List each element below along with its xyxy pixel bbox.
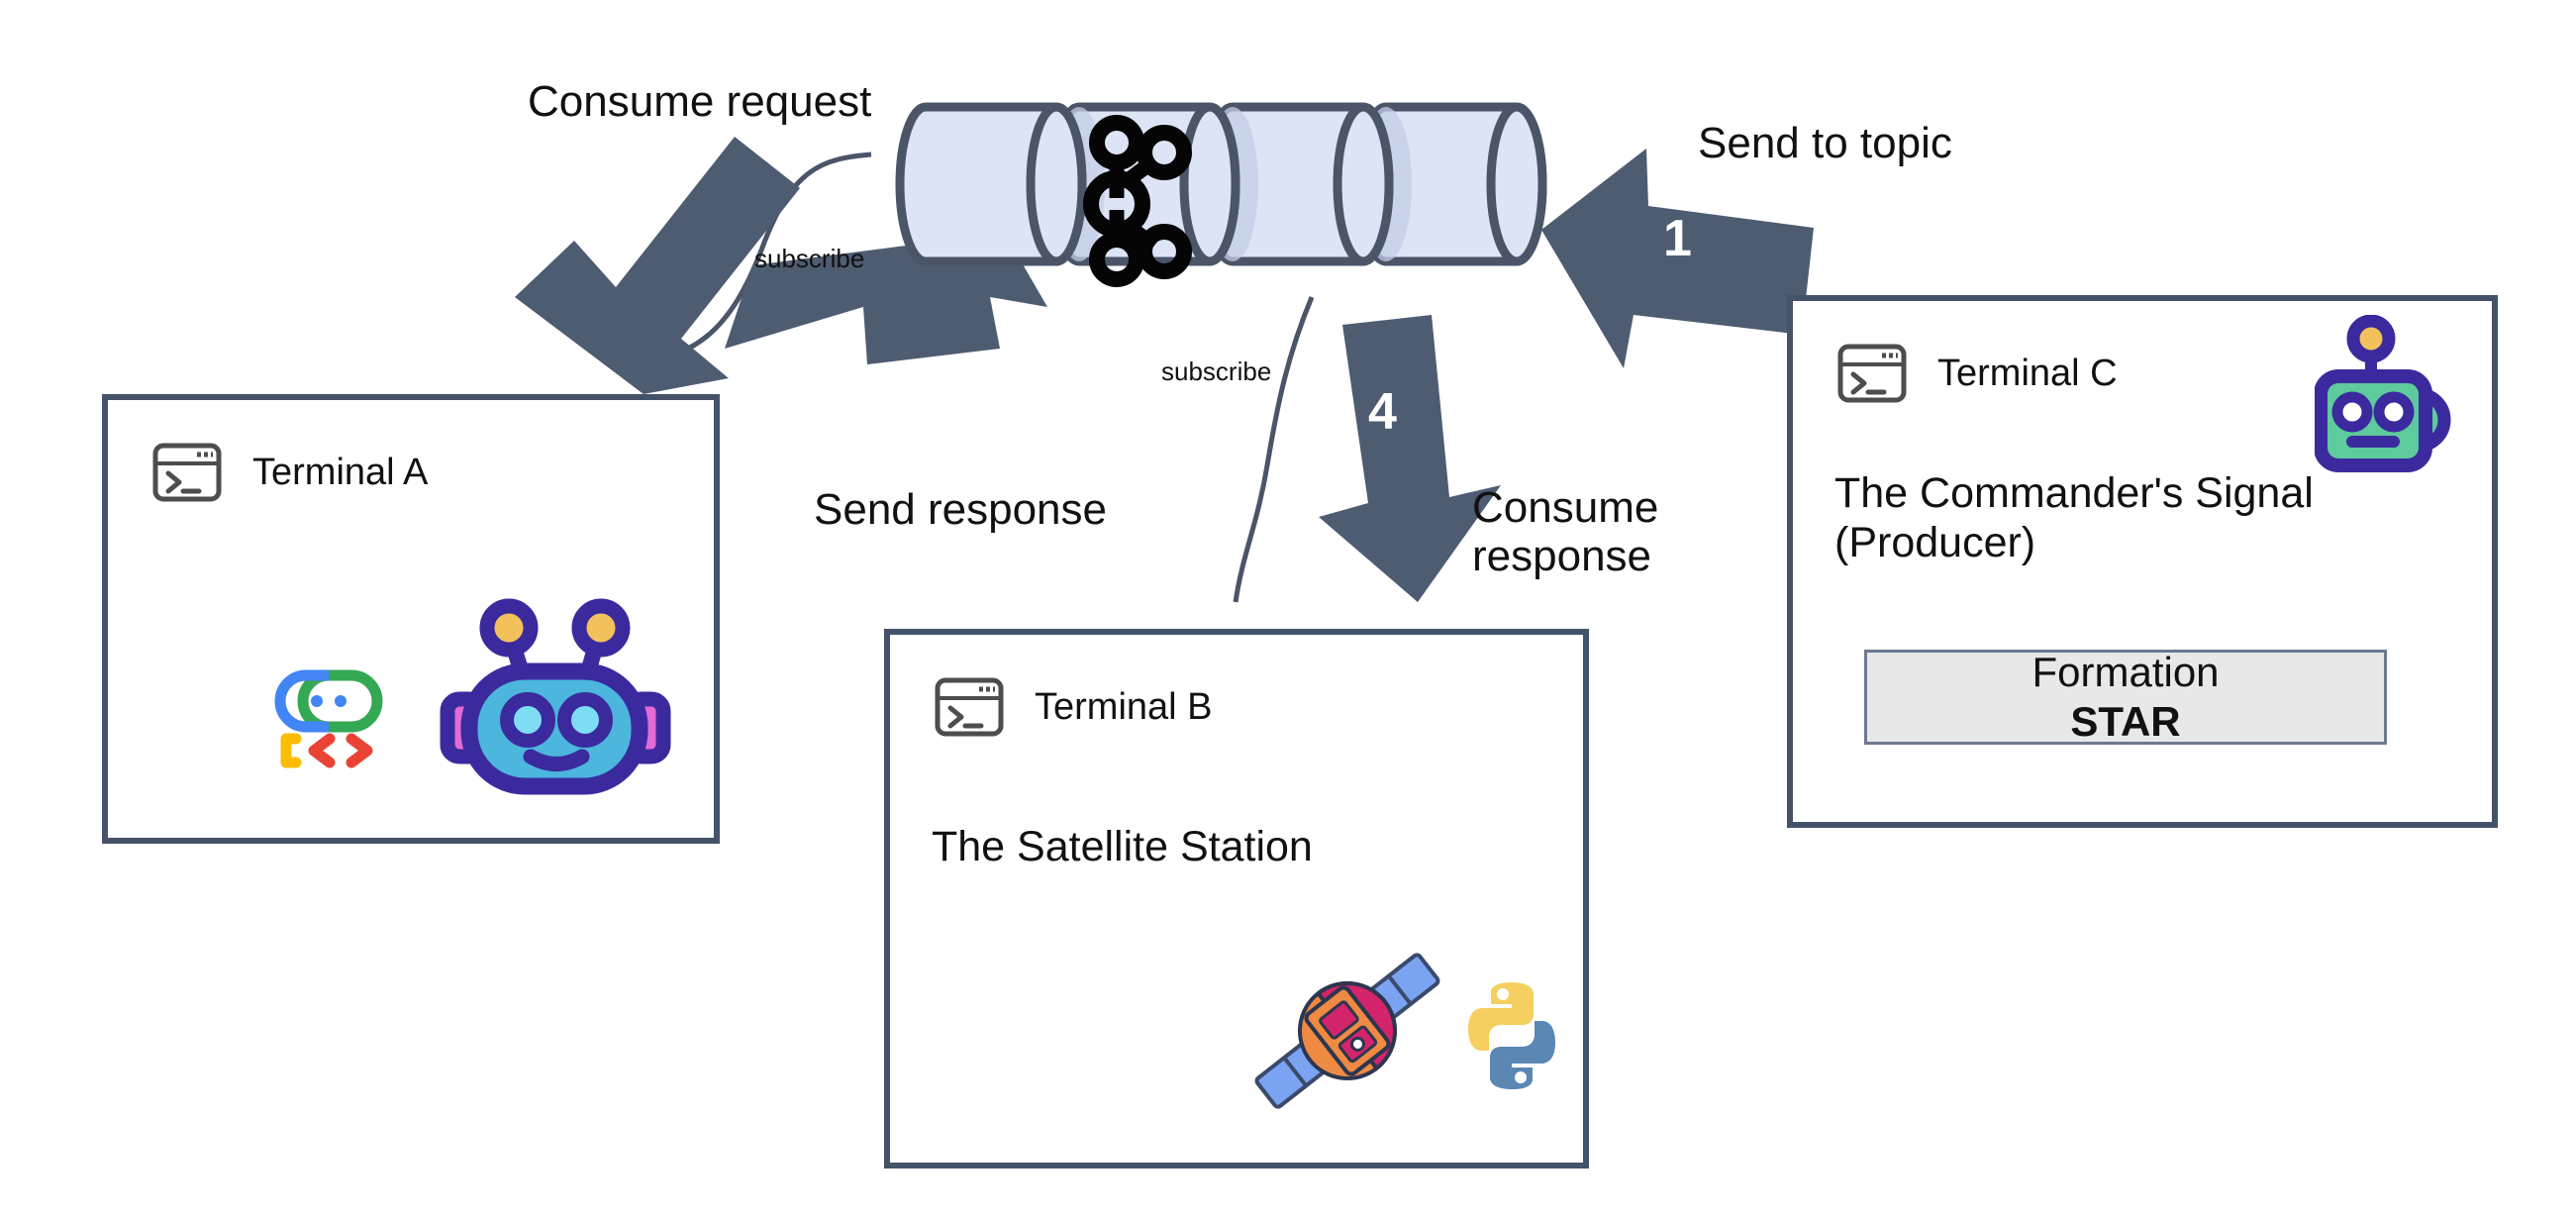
diagram-canvas: 1 2 3 4 Send to topic Consume request Se… [0,0,2576,1220]
topic-segment-3 [1207,107,1389,261]
step-label-send-response: Send response [814,485,1107,534]
step-label-consume-request: Consume request [528,77,871,126]
arrow-1-number: 1 [1663,213,1692,264]
formation-status-chip[interactable]: Formation STAR [1864,650,2387,745]
step-label-consume-response: Consume response [1472,483,1658,581]
gemini-code-assist-icon [274,669,383,773]
step-label-send-to-topic: Send to topic [1698,119,1952,167]
terminal-b-label: Terminal B [1035,688,1213,726]
arrow-3-number: 3 [787,387,827,444]
topic-segment-1 [900,107,1082,261]
terminal-c-label: Terminal C [1937,355,2118,392]
kafka-topic-cylinders [900,107,1542,279]
terminal-a-header: Terminal A [151,442,428,503]
panel-terminal-c[interactable]: Terminal C The Commander's Signal (Produ… [1787,295,2498,828]
terminal-icon [934,676,1005,738]
green-robot-icon [2315,315,2463,478]
terminal-b-header: Terminal B [934,676,1213,738]
topic-segment-4 [1360,107,1542,261]
kafka-logo [1117,160,1154,246]
terminal-icon [151,442,223,503]
subscribe-label-b: subscribe [1161,358,1271,384]
panel-terminal-a[interactable]: Terminal A [102,394,720,844]
topic-segment-2 [1053,107,1236,261]
terminal-b-title: The Satellite Station [932,823,1313,872]
satellite-icon [1238,932,1456,1135]
subscribe-curve-b [1236,297,1312,602]
terminal-a-label: Terminal A [252,454,428,491]
arrow-4-number: 4 [1368,386,1397,438]
terminal-c-header: Terminal C [1836,343,2118,404]
arrow-2-number: 2 [599,207,653,265]
subscribe-label-a: subscribe [754,246,864,271]
panel-terminal-b[interactable]: Terminal B The Satellite Station [884,629,1589,1169]
terminal-c-title: The Commander's Signal (Producer) [1834,469,2314,568]
arrow-3-send-response [725,208,1047,364]
kafka-logo-nodes [1091,123,1184,279]
formation-chip-value: STAR [2070,697,2180,747]
python-logo-icon [1452,976,1571,1100]
formation-chip-label: Formation [2031,648,2219,697]
blue-robot-icon [440,598,687,801]
terminal-icon [1836,343,1908,404]
